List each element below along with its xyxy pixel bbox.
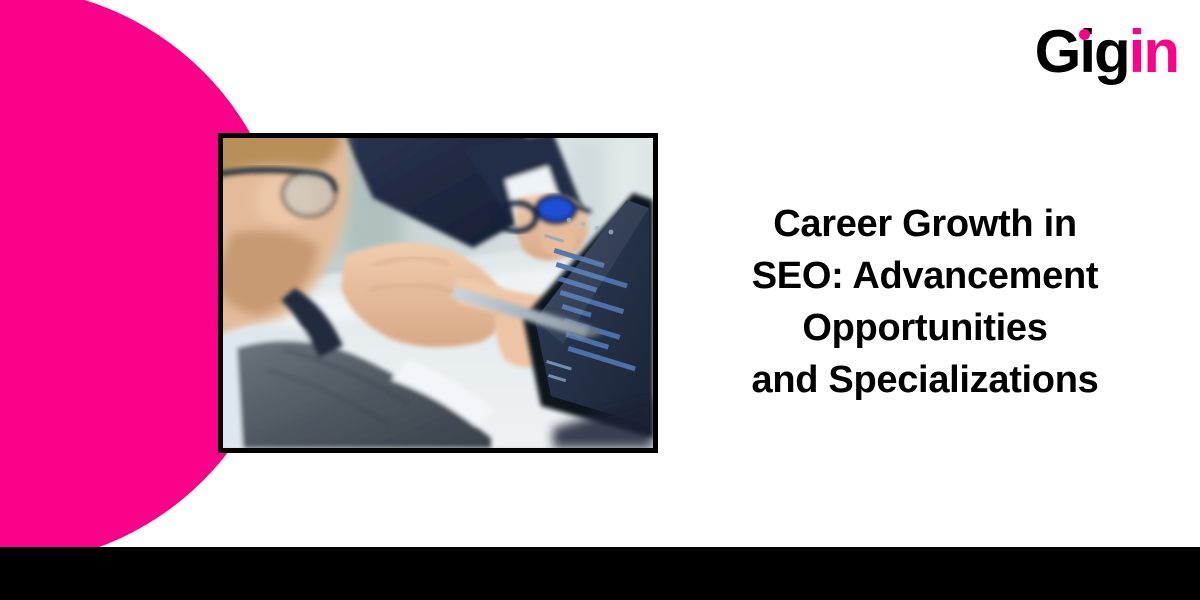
logo-i-dot-icon: [1079, 29, 1090, 40]
headline-line-2: SEO: Advancement: [690, 250, 1160, 302]
headline-line-3: Opportunities: [690, 302, 1160, 354]
headline-line-1: Career Growth in: [690, 198, 1160, 250]
promo-banner: Gigin: [0, 0, 1200, 600]
headline-line-4: and Specializations: [690, 354, 1160, 406]
black-footer-bar: [0, 547, 1200, 600]
logo-text-accent: in: [1129, 18, 1178, 85]
logo-text-dark: Gig: [1035, 18, 1129, 85]
gigin-logo[interactable]: Gigin: [1035, 22, 1178, 82]
photo-illustration: [223, 138, 653, 448]
page-title: Career Growth in SEO: Advancement Opport…: [690, 198, 1160, 406]
photo-image: [223, 138, 653, 448]
photo-card: [218, 133, 658, 453]
